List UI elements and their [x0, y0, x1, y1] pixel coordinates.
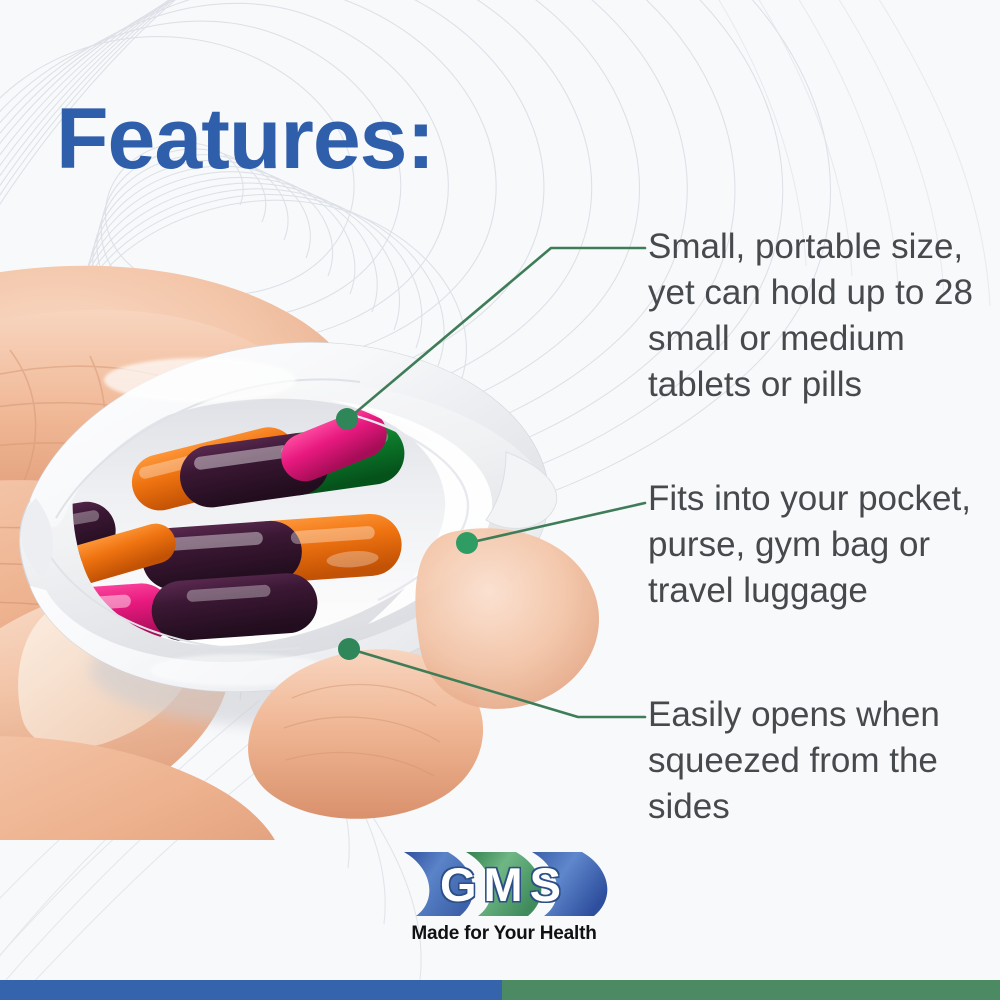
bottom-color-bar — [0, 980, 1000, 1000]
finger-right-back — [415, 528, 599, 709]
brand-logo: GMS Made for Your Health — [398, 848, 610, 952]
feature-text-1: Small, portable size, yet can hold up to… — [648, 224, 978, 408]
feature-text-3: Easily opens when squeezed from the side… — [648, 692, 978, 830]
logo-tagline: Made for Your Health — [398, 923, 610, 945]
page-title: Features: — [56, 96, 434, 182]
logo-brand-text: GMS — [398, 848, 610, 920]
feature-text-2: Fits into your pocket, purse, gym bag or… — [648, 476, 978, 614]
bottom-bar-blue-segment — [0, 980, 502, 1000]
bottom-bar-green-segment — [502, 980, 1000, 1000]
infographic-page: Features: Small, portable size, yet can … — [0, 0, 1000, 1000]
product-photo — [0, 200, 640, 840]
logo-ribbon-mark: GMS — [398, 848, 610, 920]
